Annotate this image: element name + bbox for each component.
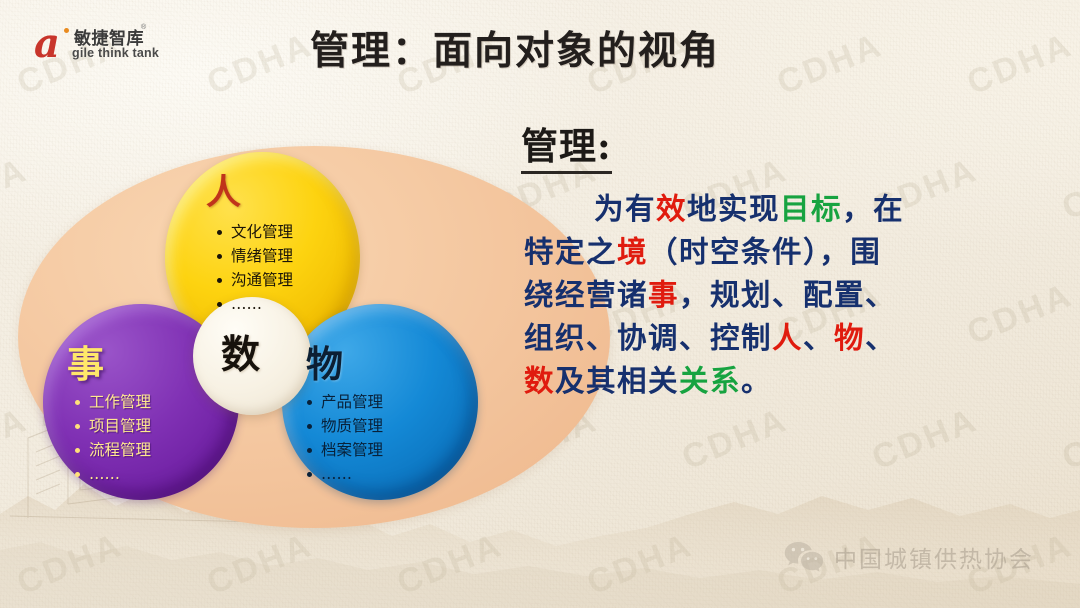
- list-item: 物质管理: [305, 414, 383, 438]
- logo-registered-mark: ®: [141, 24, 146, 31]
- definition-segment: 目标: [780, 192, 842, 226]
- watermark-text: CDHA: [772, 26, 889, 103]
- wechat-icon: [784, 540, 824, 574]
- list-item: 沟通管理: [215, 268, 293, 292]
- definition-segment: 绕经营诸: [524, 278, 648, 312]
- circle-affairs-item-list: 工作管理项目管理流程管理……: [73, 390, 151, 486]
- circle-things-label: 物: [306, 334, 343, 388]
- definition-segment: 事: [648, 278, 679, 312]
- list-item: 项目管理: [73, 414, 151, 438]
- definition-segment: 。: [741, 364, 772, 398]
- definition-body: 为有效地实现目标，在特定之境（时空条件），围绕经营诸事，规划、配置、组织、协调、…: [524, 188, 1064, 403]
- circle-affairs-label: 事: [67, 334, 104, 388]
- circle-people-label: 人: [206, 164, 241, 215]
- definition-segment: 地实现: [687, 192, 780, 226]
- list-item: 文化管理: [215, 220, 293, 244]
- definition-segment: ，规划、配置、: [679, 278, 896, 312]
- definition-segment: 物: [834, 321, 865, 355]
- definition-segment: 境: [617, 235, 648, 269]
- list-item: ……: [215, 292, 293, 316]
- definition-segment: （时空条件），围: [648, 235, 881, 269]
- definition-segment: 、: [803, 321, 834, 355]
- list-item: ……: [305, 462, 383, 486]
- logo-accent-dot: [64, 28, 69, 33]
- circle-data-label: 数: [221, 324, 260, 380]
- list-item: 产品管理: [305, 390, 383, 414]
- circle-things-item-list: 产品管理物质管理档案管理……: [305, 390, 383, 486]
- definition-segment: 数: [524, 364, 555, 398]
- logo-letter-a: a: [34, 25, 60, 63]
- definition-segment: 及其相关: [555, 364, 679, 398]
- slide-canvas: CDHACDHACDHACDHACDHACDHACDHACDHACDHACDHA…: [0, 0, 1080, 608]
- definition-segment: 组织、协调、控制: [524, 321, 772, 355]
- list-item: 工作管理: [73, 390, 151, 414]
- definition-line: 组织、协调、控制人、物、: [524, 317, 1064, 360]
- list-item: 情绪管理: [215, 244, 293, 268]
- definition-line: 绕经营诸事，规划、配置、: [524, 274, 1064, 317]
- circle-people-item-list: 文化管理情绪管理沟通管理……: [215, 220, 293, 316]
- definition-segment: 人: [772, 321, 803, 355]
- watermark-text: CDHA: [677, 401, 794, 478]
- definition-segment: ，在: [842, 192, 904, 226]
- definition-segment: 、: [865, 321, 896, 355]
- definition-line: 为有效地实现目标，在: [524, 188, 1064, 231]
- wechat-account[interactable]: 中国城镇供热协会: [784, 540, 1034, 574]
- definition-segment: 关系: [679, 364, 741, 398]
- page-title: 管理：面向对象的视角: [275, 20, 755, 76]
- definition-line: 数及其相关关系。: [524, 360, 1064, 403]
- definition-segment: 效: [656, 192, 687, 226]
- watermark-text: CDHA: [867, 401, 984, 478]
- definition-segment: 为有: [594, 192, 656, 226]
- list-item: 档案管理: [305, 438, 383, 462]
- list-item: ……: [73, 462, 151, 486]
- definition-segment: 特定之: [524, 235, 617, 269]
- brand-logo[interactable]: a 敏捷智库 ® gile think tank: [34, 22, 150, 68]
- wechat-account-name: 中国城镇供热协会: [834, 540, 1034, 574]
- list-item: 流程管理: [73, 438, 151, 462]
- definition-heading: 管理:: [521, 116, 612, 174]
- logo-english-name: gile think tank: [72, 46, 159, 60]
- watermark-text: CDHA: [1057, 401, 1080, 478]
- definition-line: 特定之境（时空条件），围: [524, 231, 1064, 274]
- watermark-text: CDHA: [962, 26, 1079, 103]
